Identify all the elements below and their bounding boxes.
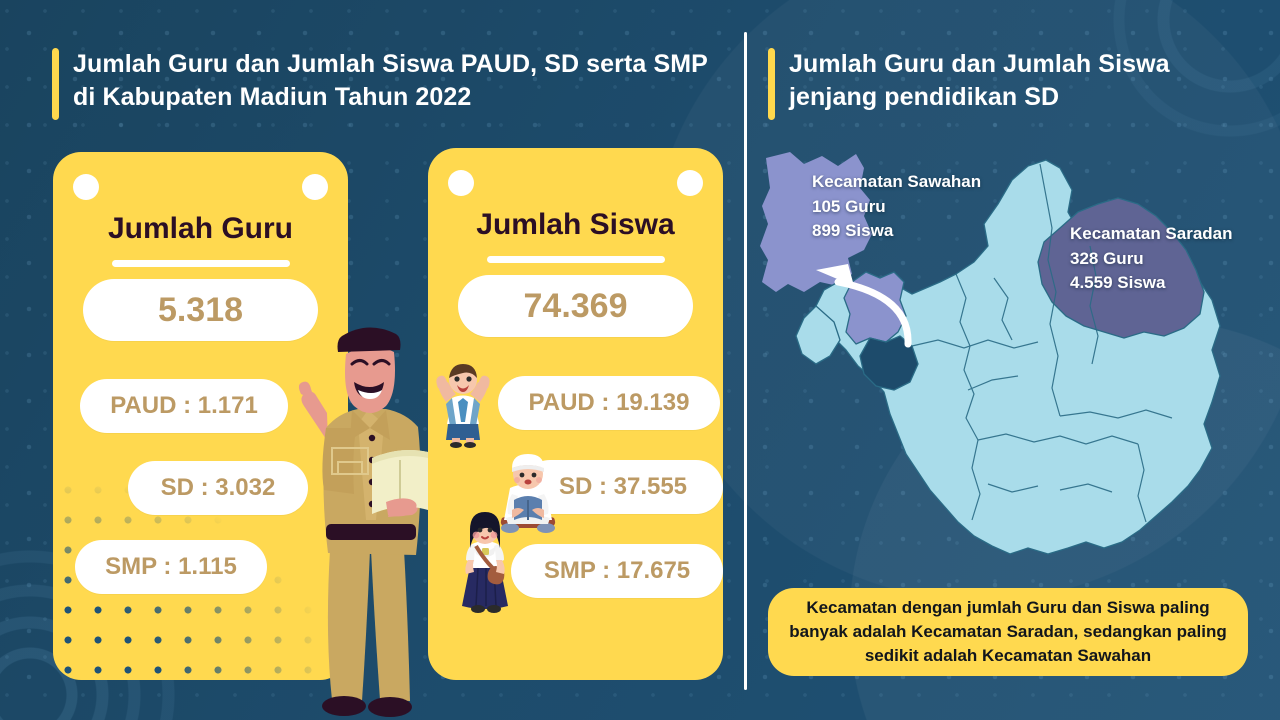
left-panel-title: Jumlah Guru dan Jumlah Siswa PAUD, SD se… (52, 48, 732, 120)
student-paud-illustration (430, 358, 496, 448)
title-accent-bar (52, 48, 59, 120)
card-heading: Jumlah Guru (53, 212, 348, 246)
card-heading: Jumlah Siswa (428, 208, 723, 242)
title-accent-bar (768, 48, 775, 120)
card-heading-underline (487, 256, 665, 263)
map-label-saradan-siswa: 4.559 Siswa (1070, 271, 1233, 296)
right-panel-title: Jumlah Guru dan Jumlah Siswa jenjang pen… (768, 48, 1238, 120)
siswa-paud-row: PAUD : 19.139 (498, 376, 720, 430)
map-pointer-arrow (786, 240, 946, 350)
siswa-smp-row: SMP : 17.675 (511, 544, 723, 598)
panel-divider (744, 32, 747, 690)
summary-note-box: Kecamatan dengan jumlah Guru dan Siswa p… (768, 588, 1248, 676)
punch-hole-right (677, 170, 703, 196)
left-title-text: Jumlah Guru dan Jumlah Siswa PAUD, SD se… (73, 48, 732, 114)
punch-hole-left (73, 174, 99, 200)
guru-smp-row: SMP : 1.115 (75, 540, 267, 594)
right-title-text: Jumlah Guru dan Jumlah Siswa jenjang pen… (789, 48, 1238, 114)
infographic-canvas: Jumlah Guru dan Jumlah Siswa PAUD, SD se… (0, 0, 1280, 720)
map-label-sawahan-name: Kecamatan Sawahan (812, 170, 981, 195)
guru-paud-row: PAUD : 1.171 (80, 379, 288, 433)
card-heading-underline (112, 260, 290, 267)
punch-hole-right (302, 174, 328, 200)
map-label-saradan-guru: 328 Guru (1070, 247, 1233, 272)
map-label-saradan: Kecamatan Saradan 328 Guru 4.559 Siswa (1070, 222, 1233, 296)
map-label-sawahan-guru: 105 Guru (812, 195, 981, 220)
map-label-saradan-name: Kecamatan Saradan (1070, 222, 1233, 247)
map-label-sawahan: Kecamatan Sawahan 105 Guru 899 Siswa (812, 170, 981, 244)
siswa-total-value: 74.369 (458, 275, 693, 337)
map-label-sawahan-siswa: 899 Siswa (812, 219, 981, 244)
student-smp-illustration (452, 508, 518, 616)
punch-hole-left (448, 170, 474, 196)
